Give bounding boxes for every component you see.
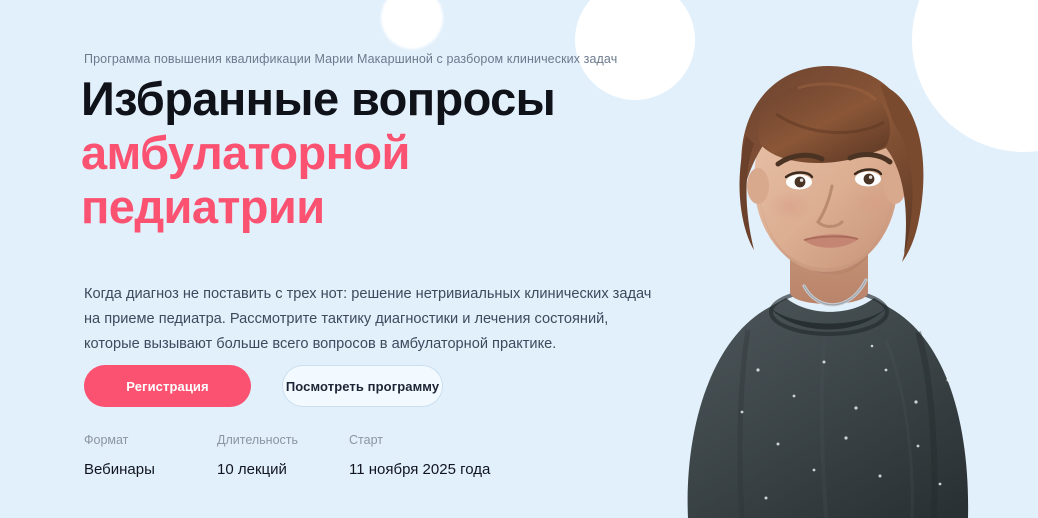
hero-actions: Регистрация Посмотреть программу bbox=[84, 365, 443, 407]
hero-description: Когда диагноз не поставить с трех нот: р… bbox=[84, 282, 664, 357]
meta-value-duration: 10 лекций bbox=[217, 460, 349, 480]
hero-banner: Программа повышения квалификации Марии М… bbox=[0, 0, 1038, 518]
page-title-line-3: педиатрии bbox=[81, 180, 555, 234]
meta-item-format: Формат Вебинары bbox=[84, 432, 217, 480]
page-title: Избранные вопросы амбулаторной педиатрии bbox=[81, 72, 555, 234]
course-meta: Формат Вебинары Длительность 10 лекций С… bbox=[84, 432, 490, 480]
hero-eyebrow: Программа повышения квалификации Марии М… bbox=[84, 51, 617, 67]
decorative-circle-large bbox=[912, 0, 1038, 152]
page-title-line-2: амбулаторной bbox=[81, 126, 555, 180]
meta-label-duration: Длительность bbox=[217, 432, 349, 449]
hero-content: Программа повышения квалификации Марии М… bbox=[84, 0, 684, 518]
meta-value-format: Вебинары bbox=[84, 460, 217, 480]
meta-label-format: Формат bbox=[84, 432, 217, 449]
meta-label-start: Старт bbox=[349, 432, 490, 449]
view-program-button[interactable]: Посмотреть программу bbox=[282, 365, 443, 407]
page-title-line-1: Избранные вопросы bbox=[81, 72, 555, 125]
registration-button[interactable]: Регистрация bbox=[84, 365, 251, 407]
meta-item-start: Старт 11 ноября 2025 года bbox=[349, 432, 490, 480]
meta-item-duration: Длительность 10 лекций bbox=[217, 432, 349, 480]
meta-value-start: 11 ноября 2025 года bbox=[349, 460, 490, 480]
